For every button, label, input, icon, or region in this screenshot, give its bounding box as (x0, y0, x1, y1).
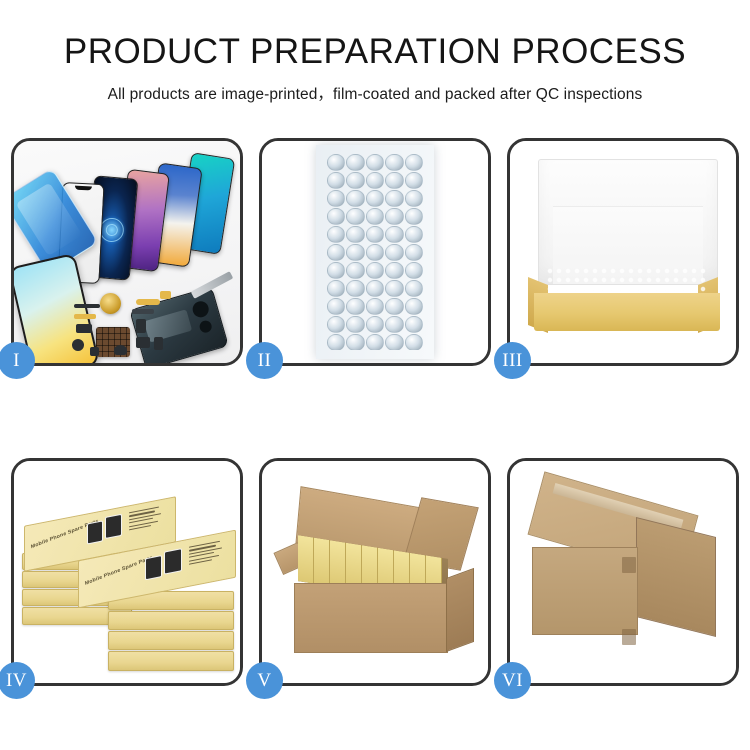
box-artwork-phone (145, 555, 162, 580)
small-part-icon (72, 339, 84, 351)
small-part-icon (136, 337, 150, 348)
box-label: Mobile Phone Spare Parts (84, 555, 153, 587)
box-spec-lines (129, 506, 163, 533)
carton-side-panel (636, 517, 716, 637)
page-subtitle: All products are image-printed，film-coat… (0, 82, 750, 104)
flex-cable-icon (74, 314, 96, 319)
carton-side-panel (446, 568, 474, 652)
process-step-grid: I II (11, 138, 739, 686)
stacked-box (108, 651, 234, 671)
step-badge-6: VI (494, 662, 531, 699)
carton-front-panel (294, 583, 448, 653)
process-step-1: I (11, 138, 243, 366)
flex-cable-icon (136, 299, 160, 305)
step-2-image (262, 141, 488, 363)
step-3-image (510, 141, 736, 363)
small-part-icon (74, 304, 100, 308)
box-front-panel (534, 293, 720, 331)
process-step-5: V (259, 458, 491, 686)
process-step-6: VI (507, 458, 739, 686)
process-step-3: III (507, 138, 739, 366)
box-artwork-phone (164, 548, 182, 574)
box-stack: Mobile Phone Spare Parts (22, 483, 236, 673)
step-badge-4: IV (0, 662, 35, 699)
stacked-box (108, 611, 234, 630)
step-badge-2: II (246, 342, 283, 379)
flex-cable-icon (160, 291, 171, 299)
speaker-coil-icon (100, 293, 121, 314)
step-6-image (510, 461, 736, 683)
carton-seam-tab (622, 557, 636, 573)
small-part-icon (132, 309, 154, 314)
page-title: PRODUCT PREPARATION PROCESS (0, 34, 750, 71)
step-4-image: Mobile Phone Spare Parts (14, 461, 240, 683)
small-part-icon (90, 347, 99, 356)
box-artwork-phone (87, 520, 103, 544)
small-part-icon (114, 345, 127, 355)
step-badge-1: I (0, 342, 35, 379)
small-part-icon (154, 337, 163, 350)
product-preparation-infographic: PRODUCT PREPARATION PROCESS All products… (0, 0, 750, 750)
small-part-icon (136, 319, 146, 333)
process-step-2: II (259, 138, 491, 366)
header: PRODUCT PREPARATION PROCESS All products… (0, 0, 750, 104)
stacked-box (108, 631, 234, 650)
step-badge-5: V (246, 662, 283, 699)
carton-seam-tab (622, 629, 636, 645)
notch-icon (75, 186, 92, 191)
process-step-4: Mobile Phone Spare Parts (11, 458, 243, 686)
step-5-image (262, 461, 488, 683)
small-part-icon (76, 324, 92, 333)
bubble-grid (327, 154, 423, 350)
box-artwork-phone (105, 514, 122, 539)
step-badge-3: III (494, 342, 531, 379)
step-1-image (14, 141, 240, 363)
box-spec-lines (189, 540, 225, 567)
